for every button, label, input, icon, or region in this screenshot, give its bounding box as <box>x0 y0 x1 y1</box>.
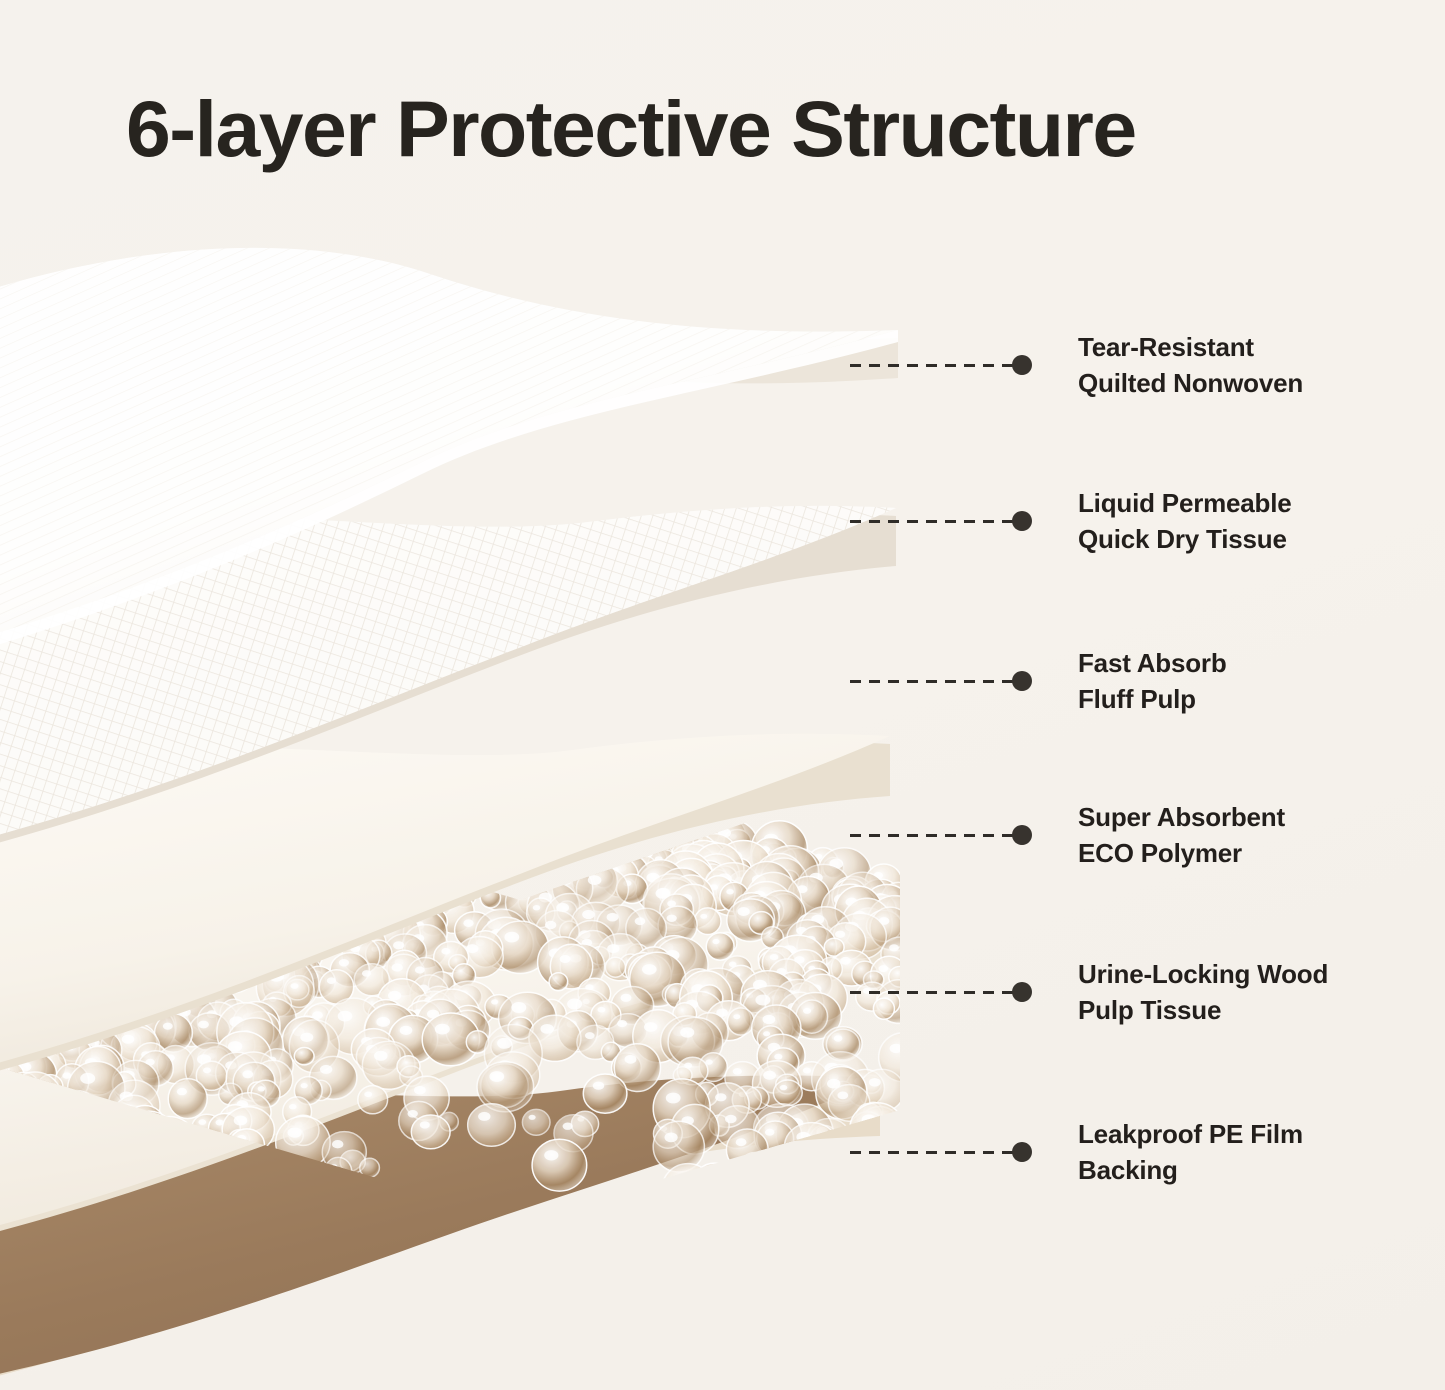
callout-label-line1: Tear-Resistant <box>1078 332 1254 362</box>
bullet-dot-icon <box>1012 671 1032 691</box>
callout-label-line2: Backing <box>1078 1152 1428 1188</box>
bullet-dot-icon <box>1012 982 1032 1002</box>
bullet-dot-icon <box>1012 511 1032 531</box>
leader-line-icon <box>850 1151 1016 1154</box>
callout-label-line1: Super Absorbent <box>1078 802 1285 832</box>
leader-line-icon <box>850 520 1016 523</box>
callout-label: Fast Absorb Fluff Pulp <box>1078 645 1428 717</box>
callout-label-line2: Pulp Tissue <box>1078 992 1428 1028</box>
callout-label: Liquid Permeable Quick Dry Tissue <box>1078 485 1428 557</box>
leader-line-icon <box>850 680 1016 683</box>
leader-line-icon <box>850 834 1016 837</box>
callout-list: Tear-Resistant Quilted Nonwoven Liquid P… <box>840 0 1445 1390</box>
bullet-dot-icon <box>1012 355 1032 375</box>
callout-label-line2: Quick Dry Tissue <box>1078 521 1428 557</box>
layer-structure-infographic: 6-layer Protective Structure <box>0 0 1445 1390</box>
callout-label: Urine-Locking Wood Pulp Tissue <box>1078 956 1428 1028</box>
leader-line-icon <box>850 364 1016 367</box>
callout-label: Tear-Resistant Quilted Nonwoven <box>1078 329 1428 401</box>
callout-label-line1: Leakproof PE Film <box>1078 1119 1303 1149</box>
bullet-dot-icon <box>1012 1142 1032 1162</box>
callout-label-line1: Fast Absorb <box>1078 648 1227 678</box>
callout-label-line2: ECO Polymer <box>1078 835 1428 871</box>
callout-label-line1: Liquid Permeable <box>1078 488 1292 518</box>
bullet-dot-icon <box>1012 825 1032 845</box>
exploded-layer-illustration <box>0 210 900 1390</box>
callout-label-line2: Fluff Pulp <box>1078 681 1428 717</box>
leader-line-icon <box>850 991 1016 994</box>
callout-label: Super Absorbent ECO Polymer <box>1078 799 1428 871</box>
callout-label-line1: Urine-Locking Wood <box>1078 959 1328 989</box>
callout-label-line2: Quilted Nonwoven <box>1078 365 1428 401</box>
callout-label: Leakproof PE Film Backing <box>1078 1116 1428 1188</box>
